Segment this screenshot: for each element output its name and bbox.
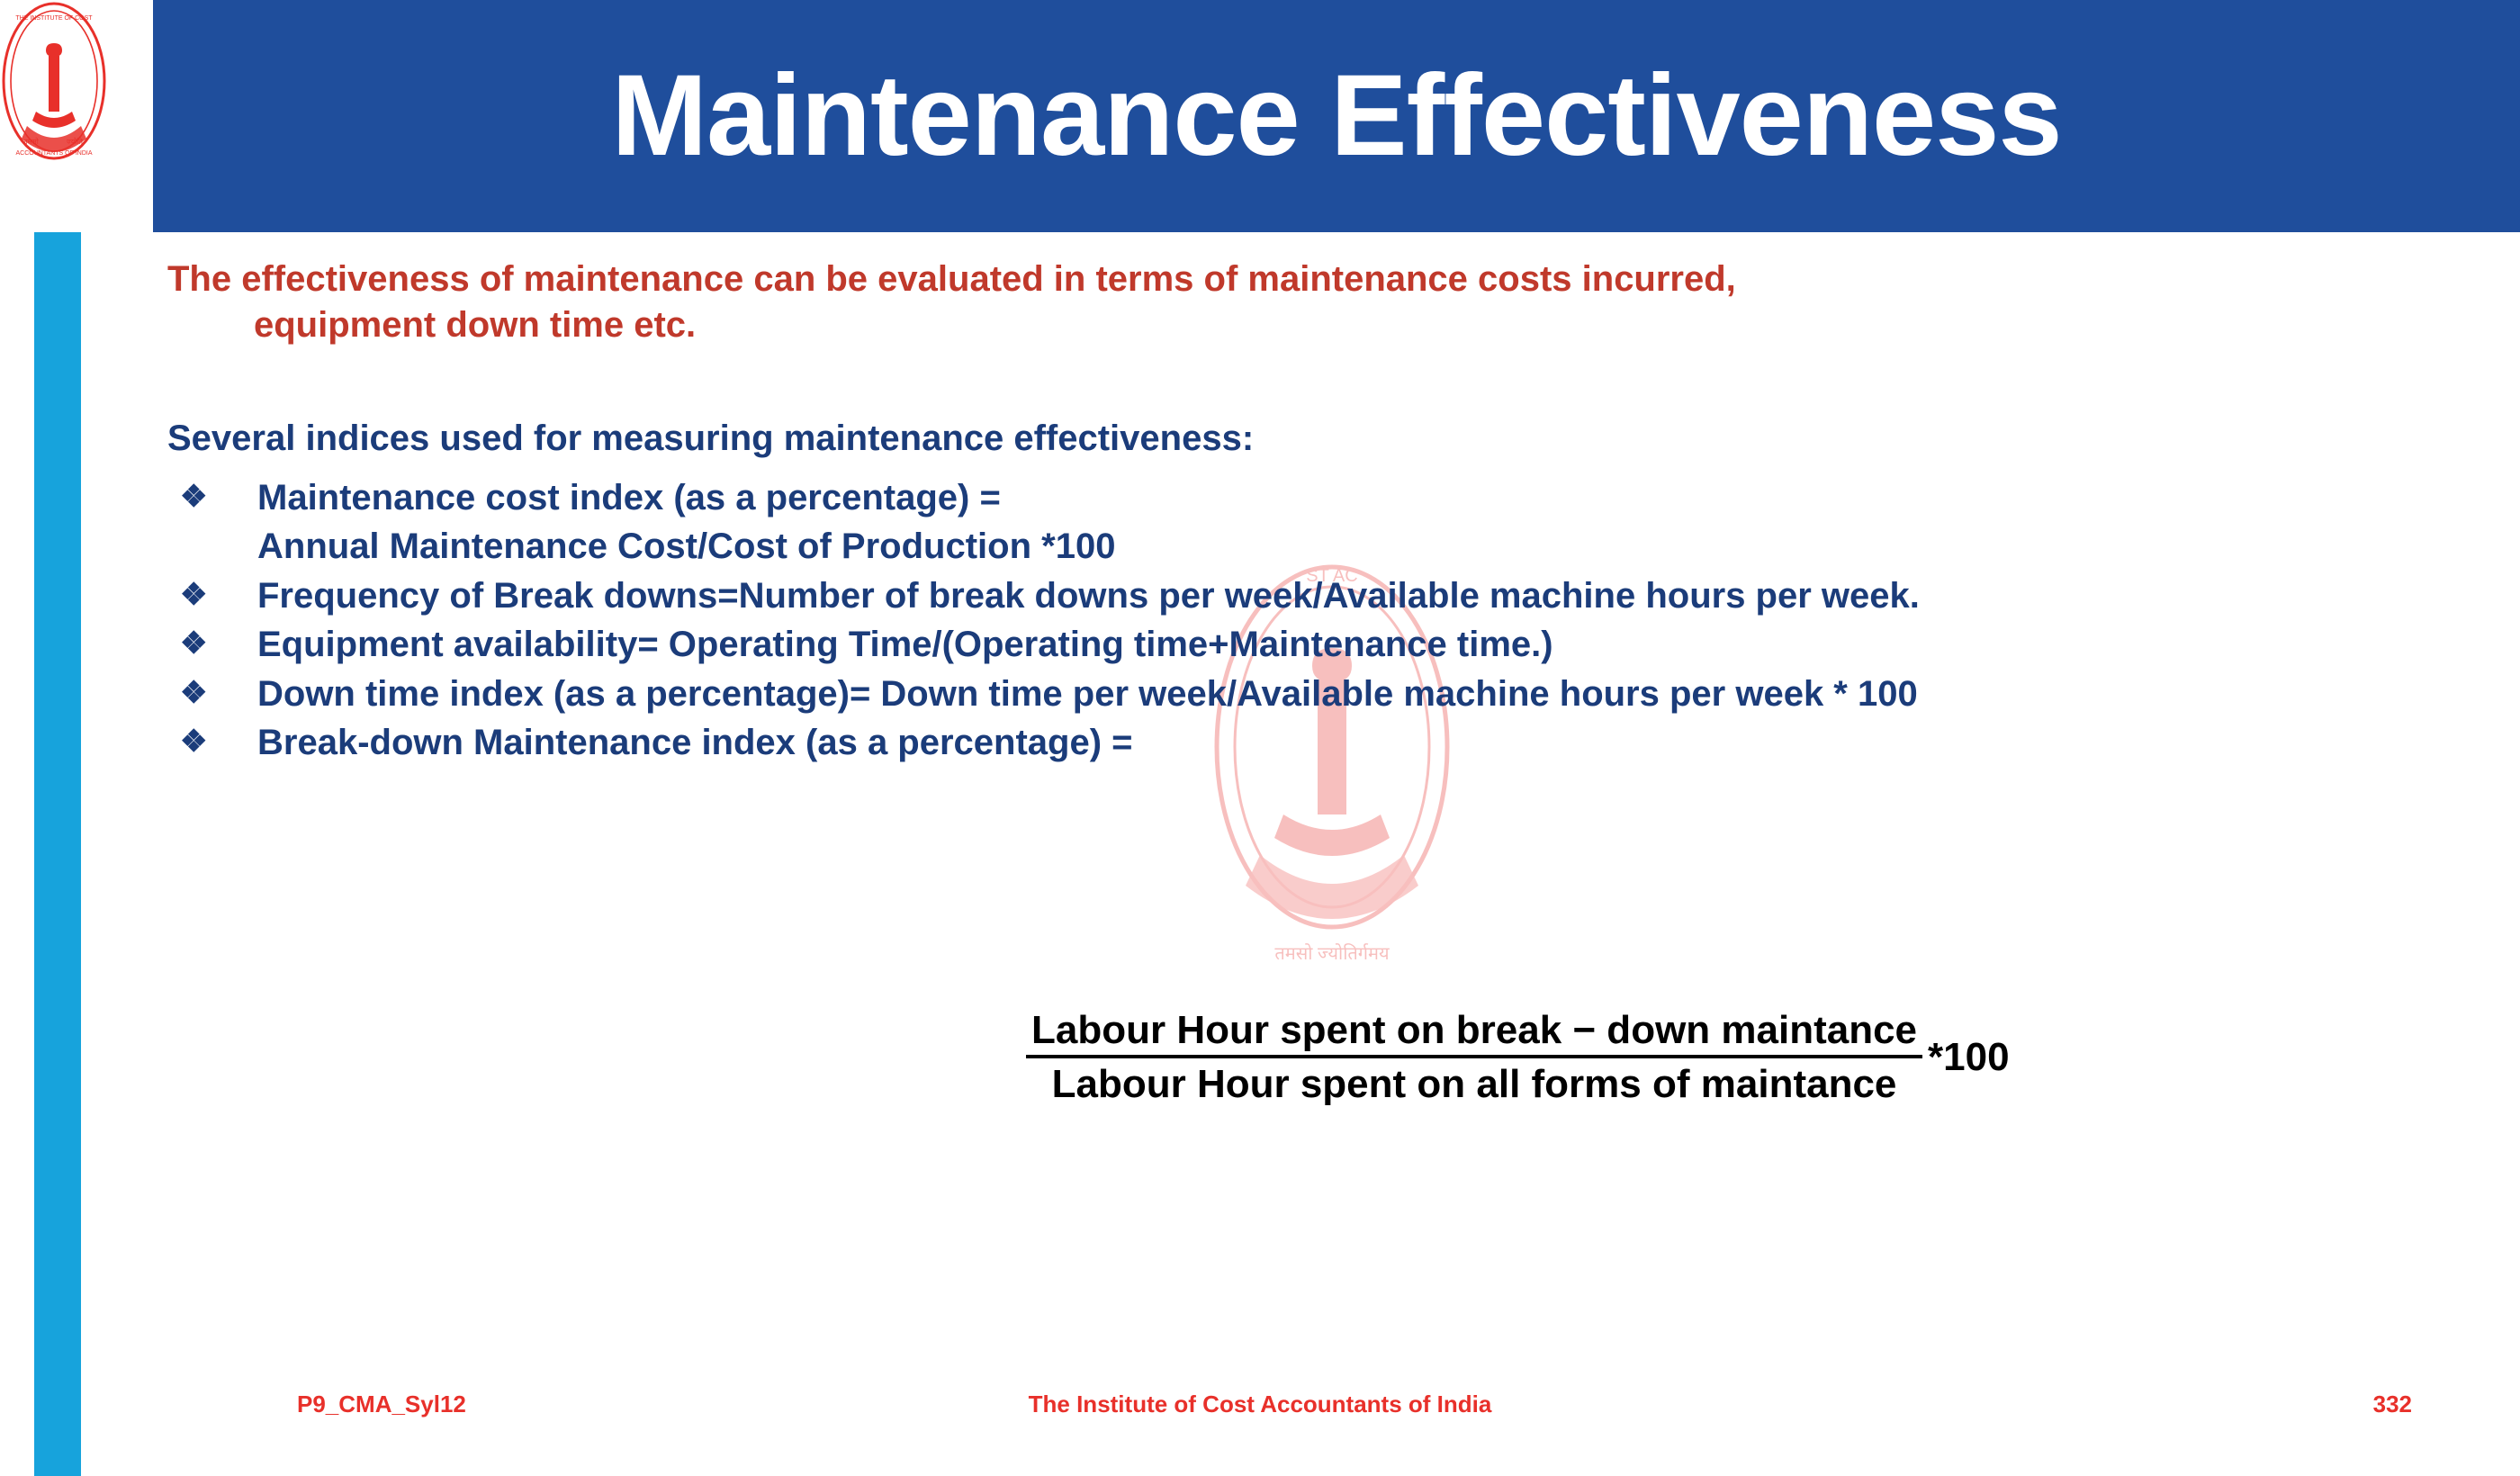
- list-item-label: Equipment availability= Operating Time/(…: [257, 622, 2453, 667]
- slide-header-band: Maintenance Effectiveness: [153, 0, 2520, 232]
- intro-paragraph: The effectiveness of maintenance can be …: [167, 256, 2444, 348]
- formula-block: Labour Hour spent on break − down mainta…: [1026, 1008, 2010, 1107]
- footer-institute-name: The Institute of Cost Accountants of Ind…: [0, 1390, 2520, 1418]
- list-item: ❖ Equipment availability= Operating Time…: [167, 622, 2453, 667]
- list-item-label: Frequency of Break downs=Number of break…: [257, 573, 2453, 618]
- svg-text:THE INSTITUTE OF COST: THE INSTITUTE OF COST: [15, 15, 93, 22]
- formula-multiplier: *100: [1928, 1035, 2010, 1080]
- intro-line-2: equipment down time etc.: [167, 302, 2444, 348]
- diamond-bullet-icon: ❖: [167, 622, 257, 666]
- institute-logo-icon: THE INSTITUTE OF COST ACCOUNTANTS OF IND…: [0, 0, 155, 236]
- svg-text:ज्योति: ज्योति: [67, 137, 83, 146]
- svg-text:तमसो: तमसो: [23, 137, 40, 146]
- list-item: ❖ Down time index (as a percentage)= Dow…: [167, 671, 2453, 716]
- fraction: Labour Hour spent on break − down mainta…: [1026, 1008, 1922, 1107]
- intro-line-1: The effectiveness of maintenance can be …: [167, 259, 1736, 299]
- institute-logo: THE INSTITUTE OF COST ACCOUNTANTS OF IND…: [0, 0, 155, 236]
- list-item: ❖ Break-down Maintenance index (as a per…: [167, 720, 2453, 765]
- diamond-bullet-icon: ❖: [167, 573, 257, 617]
- list-item-sub-label: Annual Maintenance Cost/Cost of Producti…: [167, 524, 2453, 569]
- diamond-bullet-icon: ❖: [167, 475, 257, 519]
- list-item: ❖ Maintenance cost index (as a percentag…: [167, 475, 2453, 520]
- list-item: ❖ Frequency of Break downs=Number of bre…: [167, 573, 2453, 618]
- list-item-label: Down time index (as a percentage)= Down …: [257, 671, 2453, 716]
- left-accent-bar: [34, 232, 81, 1476]
- list-item-label: Maintenance cost index (as a percentage)…: [257, 475, 2453, 520]
- svg-text:तमसो ज्योतिर्गमय: तमसो ज्योतिर्गमय: [1274, 943, 1390, 964]
- fraction-numerator: Labour Hour spent on break − down mainta…: [1026, 1008, 1922, 1058]
- section-heading: Several indices used for measuring maint…: [167, 418, 2417, 459]
- bullet-list: ❖ Maintenance cost index (as a percentag…: [167, 475, 2453, 769]
- footer-page-number: 332: [2373, 1390, 2412, 1418]
- fraction-denominator: Labour Hour spent on all forms of mainta…: [1047, 1058, 1903, 1107]
- diamond-bullet-icon: ❖: [167, 671, 257, 715]
- diamond-bullet-icon: ❖: [167, 720, 257, 764]
- list-item-label: Break-down Maintenance index (as a perce…: [257, 720, 2453, 765]
- svg-text:ACCOUNTANTS OF INDIA: ACCOUNTANTS OF INDIA: [15, 150, 92, 157]
- page-title: Maintenance Effectiveness: [611, 58, 2061, 174]
